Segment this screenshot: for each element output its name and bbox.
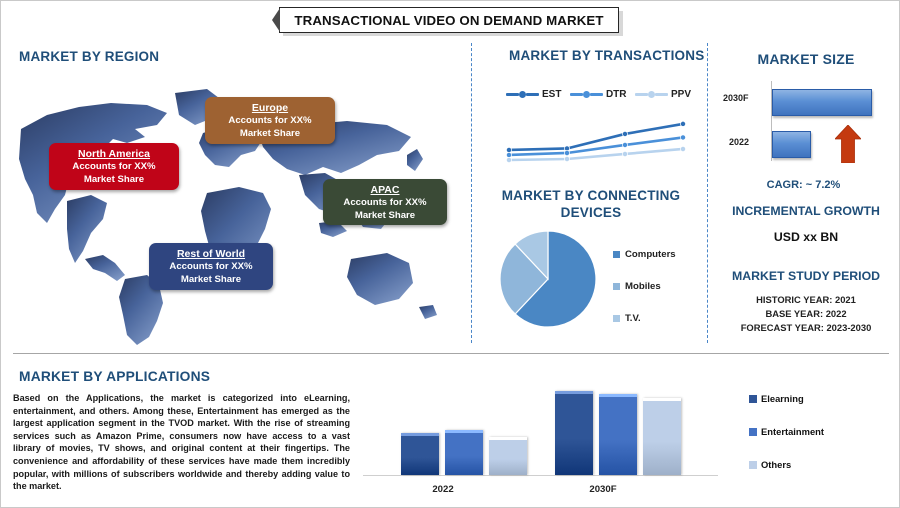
legend-line xyxy=(590,93,603,96)
legend-swatch xyxy=(749,461,757,469)
x-label-2030f: 2030F xyxy=(543,484,663,495)
divider-horizontal xyxy=(13,353,889,354)
x-label-2022: 2022 xyxy=(383,484,503,495)
historic-year: HISTORIC YEAR: 2021 xyxy=(711,293,900,307)
chart-axis xyxy=(363,475,718,476)
title-arrow-icon xyxy=(272,8,280,32)
heading-market-size: MARKET SIZE xyxy=(711,51,900,67)
legend-label: Others xyxy=(761,459,791,470)
transactions-line-chart xyxy=(501,113,691,171)
connecting-devices-pie-chart xyxy=(496,229,601,329)
growth-arrow-icon xyxy=(835,125,861,163)
cagr-value: CAGR: ~ 7.2% xyxy=(711,179,896,191)
title-text: TRANSACTIONAL VIDEO ON DEMAND MARKET xyxy=(294,13,603,28)
heading-connecting-devices-line2: DEVICES xyxy=(491,205,691,220)
legend-line xyxy=(526,93,539,96)
map-label-apac[interactable]: APAC Accounts for XX% Market Share xyxy=(323,179,447,225)
bar-entertainment-2022 xyxy=(445,430,483,475)
legend-line xyxy=(506,93,519,96)
legend-line xyxy=(635,93,648,96)
legend-item-entertainment[interactable]: Entertainment xyxy=(749,426,869,437)
legend-item-mobiles[interactable]: Mobiles xyxy=(613,281,703,292)
bar-others-2022 xyxy=(489,437,527,475)
title-box: TRANSACTIONAL VIDEO ON DEMAND MARKET xyxy=(279,7,619,33)
bar-2022 xyxy=(772,131,811,158)
legend-item-est[interactable]: EST xyxy=(506,89,561,100)
legend-label: Elearning xyxy=(761,393,804,404)
market-size-bar-chart: 2030F 2022 xyxy=(723,79,873,164)
applications-legend: Elearning Entertainment Others xyxy=(749,393,869,492)
legend-label: Computers xyxy=(625,249,676,260)
bar-elearning-2022 xyxy=(401,433,439,475)
divider-vertical-left xyxy=(471,43,472,343)
region-line1: Accounts for XX% xyxy=(57,161,171,174)
legend-line xyxy=(655,93,668,96)
region-line2: Market Share xyxy=(331,210,439,223)
region-line2: Market Share xyxy=(57,174,171,187)
bar-elearning-2030f xyxy=(555,391,593,475)
legend-label: EST xyxy=(542,89,561,100)
region-name: North America xyxy=(57,148,171,161)
region-name: Rest of World xyxy=(157,248,265,261)
forecast-year: FORECAST YEAR: 2023-2030 xyxy=(711,321,900,335)
heading-market-by-region: MARKET BY REGION xyxy=(19,49,159,64)
legend-marker xyxy=(583,91,590,98)
legend-item-elearning[interactable]: Elearning xyxy=(749,393,869,404)
legend-label: PPV xyxy=(671,89,691,100)
legend-swatch xyxy=(749,395,757,403)
incremental-growth-heading: INCREMENTAL GROWTH xyxy=(711,204,900,218)
legend-label: Mobiles xyxy=(625,281,661,292)
legend-item-others[interactable]: Others xyxy=(749,459,869,470)
incremental-growth-value: USD xx BN xyxy=(711,230,900,244)
legend-swatch xyxy=(613,315,620,322)
legend-label: DTR xyxy=(606,89,627,100)
heading-market-by-applications: MARKET BY APPLICATIONS xyxy=(19,369,210,384)
main-title: TRANSACTIONAL VIDEO ON DEMAND MARKET xyxy=(279,7,623,35)
bar-entertainment-2030f xyxy=(599,394,637,475)
region-line1: Accounts for XX% xyxy=(157,261,265,274)
legend-marker xyxy=(648,91,655,98)
heading-market-by-transactions: MARKET BY TRANSACTIONS xyxy=(509,48,704,63)
applications-bar-chart: 2022 2030F xyxy=(363,379,718,497)
applications-description: Based on the Applications, the market is… xyxy=(13,392,350,493)
legend-swatch xyxy=(613,283,620,290)
map-label-rest-of-world[interactable]: Rest of World Accounts for XX% Market Sh… xyxy=(149,243,273,290)
legend-marker xyxy=(519,91,526,98)
legend-item-tv[interactable]: T.V. xyxy=(613,313,703,324)
legend-item-ppv[interactable]: PPV xyxy=(635,89,691,100)
bar-2030f xyxy=(772,89,872,116)
infographic-page: TRANSACTIONAL VIDEO ON DEMAND MARKET MAR… xyxy=(0,0,900,508)
legend-item-dtr[interactable]: DTR xyxy=(570,89,627,100)
pie-legend: Computers Mobiles T.V. xyxy=(613,249,703,345)
region-line1: Accounts for XX% xyxy=(213,115,327,128)
transactions-legend: EST DTR PPV xyxy=(506,86,691,102)
region-line1: Accounts for XX% xyxy=(331,197,439,210)
legend-item-computers[interactable]: Computers xyxy=(613,249,703,260)
study-period-heading: MARKET STUDY PERIOD xyxy=(711,269,900,283)
region-line2: Market Share xyxy=(157,274,265,287)
bar-label-2030f: 2030F xyxy=(723,93,749,103)
map-label-europe[interactable]: Europe Accounts for XX% Market Share xyxy=(205,97,335,144)
legend-label: T.V. xyxy=(625,313,641,324)
bar-others-2030f xyxy=(643,398,681,475)
map-label-north-america[interactable]: North America Accounts for XX% Market Sh… xyxy=(49,143,179,190)
base-year: BASE YEAR: 2022 xyxy=(711,307,900,321)
region-name: Europe xyxy=(213,102,327,115)
bar-label-2022: 2022 xyxy=(729,137,749,147)
legend-line xyxy=(570,93,583,96)
divider-vertical-right xyxy=(707,43,708,343)
region-line2: Market Share xyxy=(213,128,327,141)
legend-label: Entertainment xyxy=(761,426,824,437)
region-name: APAC xyxy=(331,184,439,197)
heading-connecting-devices-line1: MARKET BY CONNECTING xyxy=(491,188,691,203)
legend-swatch xyxy=(613,251,620,258)
legend-swatch xyxy=(749,428,757,436)
